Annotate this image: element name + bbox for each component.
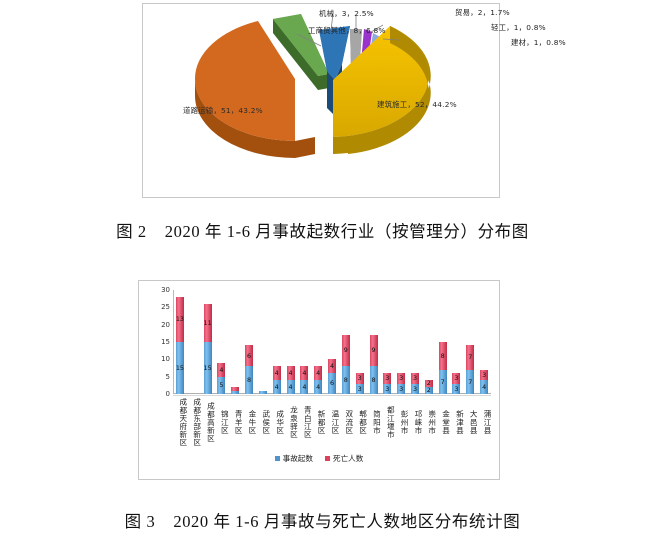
legend-swatch-icon	[325, 456, 330, 461]
bar-value-accidents: 2	[427, 387, 431, 393]
bar-value-deaths: 4	[288, 370, 292, 376]
bar-stack: 44	[300, 290, 308, 394]
bar-column[interactable]: 46	[325, 290, 339, 394]
x-axis-label: 成都东部新区	[187, 398, 201, 447]
y-tick-10: 10	[161, 355, 170, 363]
bar-value-accidents: 3	[385, 386, 389, 392]
x-label-wrap: 龙泉驿区	[284, 398, 298, 447]
bar-stack: 44	[314, 290, 322, 394]
y-tick-0: 0	[166, 390, 170, 398]
pie-chart-stage: 机械，3，2.5% 贸易，2，1.7% 轻工，1，0.8% 建材，1，0.8% …	[143, 4, 499, 197]
bar-value-deaths: 9	[371, 347, 375, 353]
bar-column[interactable]: 34	[477, 290, 491, 394]
x-axis-label: 成都高新区	[201, 398, 215, 447]
bar-value-deaths: 3	[385, 375, 389, 381]
bar-segment-deaths: 9	[342, 335, 350, 366]
bar-segment-accidents: 8	[245, 366, 253, 394]
figure-3-caption-text: 2020 年 1-6 月事故与死亡人数地区分布统计图	[173, 512, 520, 531]
bar-segment-accidents: 2	[425, 387, 433, 394]
x-axis-label: 青羊区	[228, 398, 242, 447]
figure-3-index: 图 3	[125, 512, 156, 531]
x-axis-label: 武侯区	[256, 398, 270, 447]
pie-slice-jianzhu	[333, 26, 431, 154]
x-axis-label: 大邑县	[463, 398, 477, 447]
bar-segment-deaths: 4	[300, 366, 308, 380]
pie-label-qita: 工商贸其他，8，6.8%	[308, 26, 386, 35]
bar-column[interactable]: 33	[450, 290, 464, 394]
x-axis-label: 锦江区	[214, 398, 228, 447]
bar-segment-deaths: 4	[328, 359, 336, 373]
bar-segment-accidents: 5	[217, 377, 225, 394]
y-tick-25: 25	[161, 303, 170, 311]
bar-value-deaths: 3	[358, 375, 362, 381]
x-axis-label: 新津县	[450, 398, 464, 447]
bar-segment-deaths: 3	[452, 373, 460, 383]
bar-stack: 33	[452, 290, 460, 394]
legend-item[interactable]: 死亡人数	[325, 453, 363, 464]
legend-swatch-icon	[275, 456, 280, 461]
bar-stack: 33	[383, 290, 391, 394]
x-label-wrap: 蒲江县	[477, 398, 491, 447]
bar-stack: 44	[287, 290, 295, 394]
x-label-wrap: 新都区	[311, 398, 325, 447]
figure-2-caption-text: 2020 年 1-6 月事故起数行业（按管理分）分布图	[165, 222, 529, 241]
x-axis-labels: 成都天府新区成都东部新区成都高新区锦江区青羊区金牛区武侯区成华区龙泉驿区青白江区…	[173, 398, 491, 447]
bar-segment-accidents: 4	[480, 380, 488, 394]
bar-stack: 98	[370, 290, 378, 394]
bar-segment-accidents: 15	[176, 342, 184, 394]
x-axis-label: 蒲江县	[477, 398, 491, 447]
bar-value-deaths: 4	[275, 370, 279, 376]
pie-chart-figure: 机械，3，2.5% 贸易，2，1.7% 轻工，1，0.8% 建材，1，0.8% …	[142, 3, 500, 198]
bar-stack: 44	[273, 290, 281, 394]
bar-column[interactable]	[256, 290, 270, 394]
x-label-wrap: 青白江区	[297, 398, 311, 447]
x-label-wrap: 锦江区	[214, 398, 228, 447]
legend-label: 死亡人数	[333, 453, 363, 464]
bar-value-deaths: 6	[247, 353, 251, 359]
x-label-wrap: 大邑县	[463, 398, 477, 447]
bar-value-accidents: 3	[413, 386, 417, 392]
bar-value-deaths: 4	[219, 367, 223, 373]
bar-column[interactable]: 33	[408, 290, 422, 394]
bar-segment-deaths: 3	[411, 373, 419, 383]
bar-stack	[190, 290, 198, 394]
bar-value-accidents: 4	[316, 384, 320, 390]
x-label-wrap: 都江堰市	[380, 398, 394, 447]
x-label-wrap: 邛崃市	[408, 398, 422, 447]
bar-value-accidents: 7	[441, 379, 445, 385]
bar-value-accidents: 3	[399, 386, 403, 392]
x-axis-label: 双流区	[339, 398, 353, 447]
bar-column[interactable]: 77	[463, 290, 477, 394]
figure-2-index: 图 2	[116, 222, 147, 241]
x-label-wrap: 成都高新区	[201, 398, 215, 447]
pie-label-qinggong: 轻工，1，0.8%	[491, 23, 546, 32]
bar-segment-accidents: 4	[300, 380, 308, 394]
bar-value-accidents: 8	[344, 377, 348, 383]
x-label-wrap: 双流区	[339, 398, 353, 447]
bar-stack: 77	[466, 290, 474, 394]
bar-column[interactable]: 98	[339, 290, 353, 394]
bar-segment-deaths: 4	[314, 366, 322, 380]
bar-value-deaths: 3	[399, 375, 403, 381]
x-axis-label: 青白江区	[297, 398, 311, 447]
x-axis-label: 成都天府新区	[173, 398, 187, 447]
bar-value-deaths: 4	[302, 370, 306, 376]
bar-stack	[231, 290, 239, 394]
pie-label-jiancai: 建材，1，0.8%	[511, 38, 566, 47]
bar-plot-area: 302520151050 131511154568444444444698339…	[173, 290, 491, 394]
bar-value-accidents: 4	[302, 384, 306, 390]
x-axis-label: 简阳市	[367, 398, 381, 447]
x-axis-label: 成华区	[270, 398, 284, 447]
bar-value-deaths: 7	[468, 354, 472, 360]
bar-column[interactable]	[187, 290, 201, 394]
bar-segment-accidents: 8	[342, 366, 350, 394]
legend-label: 事故起数	[283, 453, 313, 464]
bar-chart-legend: 事故起数死亡人数	[139, 453, 499, 464]
x-axis-label: 崇州市	[422, 398, 436, 447]
bar-value-accidents: 15	[176, 365, 184, 371]
x-label-wrap: 彭州市	[394, 398, 408, 447]
bar-value-accidents: 3	[358, 386, 362, 392]
bar-value-deaths: 4	[330, 363, 334, 369]
x-label-wrap: 青羊区	[228, 398, 242, 447]
bar-column[interactable]	[228, 290, 242, 394]
bar-value-deaths: 8	[441, 353, 445, 359]
pie-label-jixie: 机械，3，2.5%	[319, 9, 374, 18]
bar-stack: 46	[328, 290, 336, 394]
bar-value-accidents: 6	[330, 380, 334, 386]
bar-segment-deaths: 3	[383, 373, 391, 383]
bar-value-accidents: 7	[468, 379, 472, 385]
x-axis-label: 都江堰市	[380, 398, 394, 447]
bar-segment-accidents: 6	[328, 373, 336, 394]
bar-column[interactable]: 33	[394, 290, 408, 394]
bar-segment-deaths: 9	[370, 335, 378, 366]
x-label-wrap: 成都天府新区	[173, 398, 187, 447]
bar-segment-accidents: 3	[356, 384, 364, 394]
x-axis-label: 彭州市	[394, 398, 408, 447]
bar-stack: 34	[480, 290, 488, 394]
bar-segment-accidents: 4	[314, 380, 322, 394]
bar-value-accidents: 8	[247, 377, 251, 383]
bar-stack: 33	[411, 290, 419, 394]
bar-value-deaths: 3	[454, 375, 458, 381]
pie-label-jianzhu: 建筑施工，52，44.2%	[377, 100, 457, 109]
bar-chart-figure: 302520151050 131511154568444444444698339…	[138, 280, 500, 480]
bar-value-deaths: 11	[204, 320, 212, 326]
bar-stack: 33	[356, 290, 364, 394]
y-tick-5: 5	[166, 373, 170, 381]
bar-column[interactable]: 22	[422, 290, 436, 394]
bar-segment-deaths: 4	[287, 366, 295, 380]
bar-segment-accidents: 3	[383, 384, 391, 394]
bar-value-deaths: 4	[316, 370, 320, 376]
figure-2-caption: 图 22020 年 1-6 月事故起数行业（按管理分）分布图	[0, 218, 645, 242]
y-tick-15: 15	[161, 338, 170, 346]
x-label-wrap: 简阳市	[367, 398, 381, 447]
bar-column[interactable]: 44	[297, 290, 311, 394]
bar-column[interactable]: 1315	[173, 290, 187, 394]
pie-label-maoyi: 贸易，2，1.7%	[455, 8, 510, 17]
bar-segment-accidents	[259, 391, 267, 394]
bar-segment-accidents: 3	[452, 384, 460, 394]
bar-column[interactable]: 45	[214, 290, 228, 394]
legend-item[interactable]: 事故起数	[275, 453, 313, 464]
bar-column[interactable]: 68	[242, 290, 256, 394]
bar-column[interactable]: 87	[436, 290, 450, 394]
bar-column[interactable]: 98	[367, 290, 381, 394]
x-label-wrap: 金牛区	[242, 398, 256, 447]
bar-value-accidents: 4	[482, 384, 486, 390]
x-axis-label: 金牛区	[242, 398, 256, 447]
bar-value-accidents: 5	[219, 382, 223, 388]
x-axis-baseline-shadow	[173, 395, 491, 396]
x-label-wrap: 温江区	[325, 398, 339, 447]
bar-value-accidents: 4	[275, 384, 279, 390]
bar-segment-deaths: 11	[204, 304, 212, 342]
bar-column[interactable]: 44	[311, 290, 325, 394]
bar-stack: 1115	[204, 290, 212, 394]
bar-stack	[259, 290, 267, 394]
bar-segment-deaths: 4	[217, 363, 225, 377]
x-label-wrap: 成都东部新区	[187, 398, 201, 447]
x-axis-label: 郫都区	[353, 398, 367, 447]
bar-segment-accidents: 7	[466, 370, 474, 394]
bar-stack: 33	[397, 290, 405, 394]
bar-stack: 68	[245, 290, 253, 394]
bar-segment-accidents: 7	[439, 370, 447, 394]
bar-stack: 22	[425, 290, 433, 394]
bar-stack: 98	[342, 290, 350, 394]
x-label-wrap: 崇州市	[422, 398, 436, 447]
bar-segment-deaths: 13	[176, 297, 184, 342]
bar-segment-deaths: 3	[356, 373, 364, 383]
bar-column[interactable]: 1115	[201, 290, 215, 394]
bar-segment-deaths: 3	[397, 373, 405, 383]
x-label-wrap: 武侯区	[256, 398, 270, 447]
bar-chart-stage: 302520151050 131511154568444444444698339…	[139, 281, 499, 479]
x-label-wrap: 金堂县	[436, 398, 450, 447]
figure-3-caption: 图 32020 年 1-6 月事故与死亡人数地区分布统计图	[0, 508, 645, 532]
bar-column[interactable]: 33	[353, 290, 367, 394]
bar-segment-accidents	[231, 391, 239, 394]
x-label-wrap: 郫都区	[353, 398, 367, 447]
y-tick-20: 20	[161, 321, 170, 329]
bar-stack: 1315	[176, 290, 184, 394]
bar-segment-deaths: 7	[466, 345, 474, 369]
bar-column[interactable]: 44	[270, 290, 284, 394]
bar-segment-accidents: 15	[204, 342, 212, 394]
bar-segment-accidents: 3	[397, 384, 405, 394]
bar-stack: 87	[439, 290, 447, 394]
bar-segment-accidents: 4	[273, 380, 281, 394]
y-tick-30: 30	[161, 286, 170, 294]
bar-segment-deaths: 6	[245, 345, 253, 366]
bar-value-deaths: 13	[176, 316, 184, 322]
x-axis-label: 新都区	[311, 398, 325, 447]
bar-value-accidents: 3	[454, 386, 458, 392]
x-axis-label: 邛崃市	[408, 398, 422, 447]
bar-segment-accidents: 8	[370, 366, 378, 394]
bar-value-deaths: 3	[413, 375, 417, 381]
bar-segment-accidents: 3	[411, 384, 419, 394]
bar-segment-deaths: 8	[439, 342, 447, 370]
bar-value-deaths: 9	[344, 347, 348, 353]
x-axis-label: 龙泉驿区	[284, 398, 298, 447]
bar-value-deaths: 3	[482, 372, 486, 378]
bar-series-container: 1315111545684444444446983398333333228733…	[173, 290, 491, 394]
bar-value-accidents: 15	[204, 365, 212, 371]
pie-label-daolu: 道路运输，51，43.2%	[183, 106, 263, 115]
bar-value-accidents: 8	[371, 377, 375, 383]
x-label-wrap: 新津县	[450, 398, 464, 447]
bar-column[interactable]: 44	[284, 290, 298, 394]
bar-stack: 45	[217, 290, 225, 394]
bar-segment-deaths: 4	[273, 366, 281, 380]
x-axis-label: 温江区	[325, 398, 339, 447]
bar-column[interactable]: 33	[380, 290, 394, 394]
bar-value-accidents: 4	[288, 384, 292, 390]
bar-segment-deaths: 3	[480, 370, 488, 380]
bar-segment-accidents: 4	[287, 380, 295, 394]
x-axis-label: 金堂县	[436, 398, 450, 447]
x-label-wrap: 成华区	[270, 398, 284, 447]
